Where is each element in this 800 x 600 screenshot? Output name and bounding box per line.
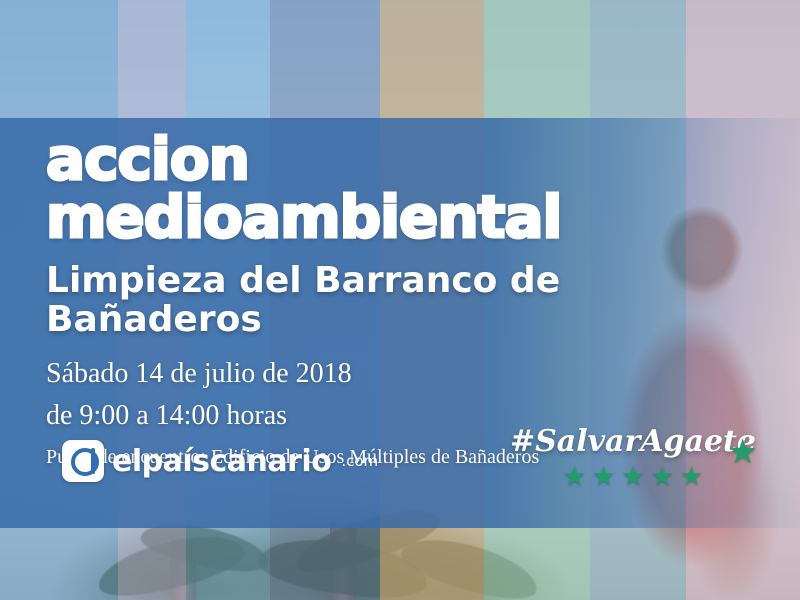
star-icon-large: ★ — [728, 432, 758, 472]
hashtag-text: #SalvarAgaete — [508, 424, 758, 459]
poster-text-block: accion medioambiental Limpieza del Barra… — [46, 130, 760, 469]
poster-headline: accion medioambiental — [46, 130, 760, 246]
star-rating-row: ★ ★ ★ ★ ★ — [508, 463, 758, 489]
star-icon-4: ★ — [651, 463, 674, 489]
event-date: Sábado 14 de julio de 2018 — [46, 358, 760, 390]
poster-subheadline: Limpieza del Barranco de Bañaderos — [46, 262, 760, 340]
elpaiscanario-logo[interactable]: elpaíscanario .com — [62, 440, 378, 482]
hashtag-badge: ★ #SalvarAgaete ★ ★ ★ ★ ★ — [508, 424, 758, 514]
logo-tld: .com — [341, 452, 378, 470]
star-icon-5: ★ — [680, 463, 703, 489]
star-icon-1: ★ — [563, 463, 586, 489]
elpaiscanario-circle-mark-icon — [62, 440, 104, 482]
poster-image: accion medioambiental Limpieza del Barra… — [0, 0, 800, 600]
star-icon-2: ★ — [592, 463, 615, 489]
star-icon-3: ★ — [621, 463, 644, 489]
logo-name: elpaíscanario — [112, 444, 331, 479]
